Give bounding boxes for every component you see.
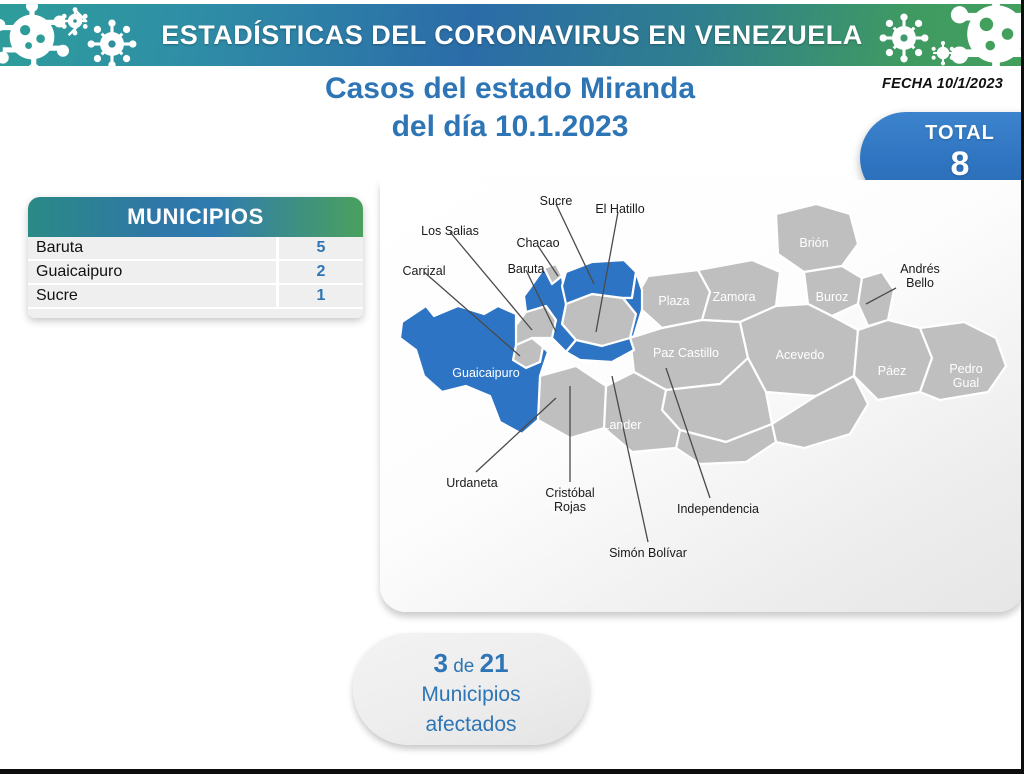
map-label-zamora: Zamora [712, 290, 755, 304]
table-footer-strip [28, 309, 363, 318]
map-label-andres-bello: Andrés Bello [900, 262, 940, 291]
map-label-los-salias: Los Salias [421, 224, 479, 238]
table-header: MUNICIPIOS [28, 197, 363, 237]
map-label-pedro-gual: Pedro Gual [949, 362, 982, 391]
map-label-andres-bello-line1: Andrés [900, 262, 940, 276]
map-label-andres-bello-line2: Bello [900, 276, 940, 290]
table-row: Baruta 5 [28, 237, 363, 261]
map-label-plaza: Plaza [658, 294, 689, 308]
map-label-sucre: Sucre [540, 194, 573, 208]
map-label-lander: Lander [603, 418, 642, 432]
map-label-pedro-gual-line2: Gual [949, 376, 982, 390]
municipio-name: Guaicaipuro [28, 261, 276, 285]
affected-count: 3 [433, 648, 447, 678]
map-label-carrizal: Carrizal [402, 264, 445, 278]
total-value: 8 [860, 147, 1024, 183]
banner-title: ESTADÍSTICAS DEL CORONAVIRUS EN VENEZUEL… [0, 4, 1024, 66]
affected-municipalities-pill: 3 de 21 Municipios afectados [353, 633, 589, 745]
affected-total: 21 [480, 648, 509, 678]
map-label-pedro-gual-line1: Pedro [949, 362, 982, 376]
table-row: Guaicaipuro 2 [28, 261, 363, 285]
map-panel: Carrizal Los Salias Baruta Chacao Sucre … [380, 180, 1024, 612]
page-title: Casos del estado Miranda del día 10.1.20… [150, 70, 870, 146]
map-label-cristobal-rojas: Cristóbal Rojas [545, 486, 594, 515]
map-label-layer: Carrizal Los Salias Baruta Chacao Sucre … [380, 180, 1024, 612]
affected-label-line1: Municipios [353, 682, 589, 708]
page-title-line1: Casos del estado Miranda [150, 70, 870, 108]
affected-label-line2: afectados [353, 712, 589, 738]
map-label-independencia: Independencia [677, 502, 759, 516]
map-label-chacao: Chacao [516, 236, 559, 250]
map-label-cristobal-rojas-line2: Rojas [545, 500, 594, 514]
map-label-cristobal-rojas-line1: Cristóbal [545, 486, 594, 500]
affected-ratio: 3 de 21 [353, 649, 589, 678]
map-label-acevedo: Acevedo [776, 348, 825, 362]
table-row: Sucre 1 [28, 285, 363, 309]
map-label-simon-bolivar: Simón Bolívar [609, 546, 687, 560]
map-label-guaicaipuro: Guaicaipuro [452, 366, 519, 380]
municipio-name: Baruta [28, 237, 276, 261]
affected-de: de [448, 656, 480, 677]
total-label: TOTAL [860, 122, 1024, 145]
municipio-name: Sucre [28, 285, 276, 309]
municipio-count: 5 [276, 237, 363, 261]
header-banner: ESTADÍSTICAS DEL CORONAVIRUS EN VENEZUEL… [0, 4, 1024, 66]
map-label-paz-castillo: Paz Castillo [653, 346, 719, 360]
map-label-paez: Páez [878, 364, 907, 378]
infographic-page: ESTADÍSTICAS DEL CORONAVIRUS EN VENEZUEL… [0, 0, 1024, 774]
map-label-brion: Brión [799, 236, 828, 250]
municipios-table: MUNICIPIOS Baruta 5 Guaicaipuro 2 Sucre … [28, 197, 363, 318]
page-title-line2: del día 10.1.2023 [150, 108, 870, 146]
map-label-baruta: Baruta [508, 262, 545, 276]
municipio-count: 2 [276, 261, 363, 285]
map-label-el-hatillo: El Hatillo [595, 202, 644, 216]
date-label: FECHA 10/1/2023 [882, 76, 1003, 92]
map-label-buroz: Buroz [816, 290, 849, 304]
map-label-urdaneta: Urdaneta [446, 476, 497, 490]
municipio-count: 1 [276, 285, 363, 309]
